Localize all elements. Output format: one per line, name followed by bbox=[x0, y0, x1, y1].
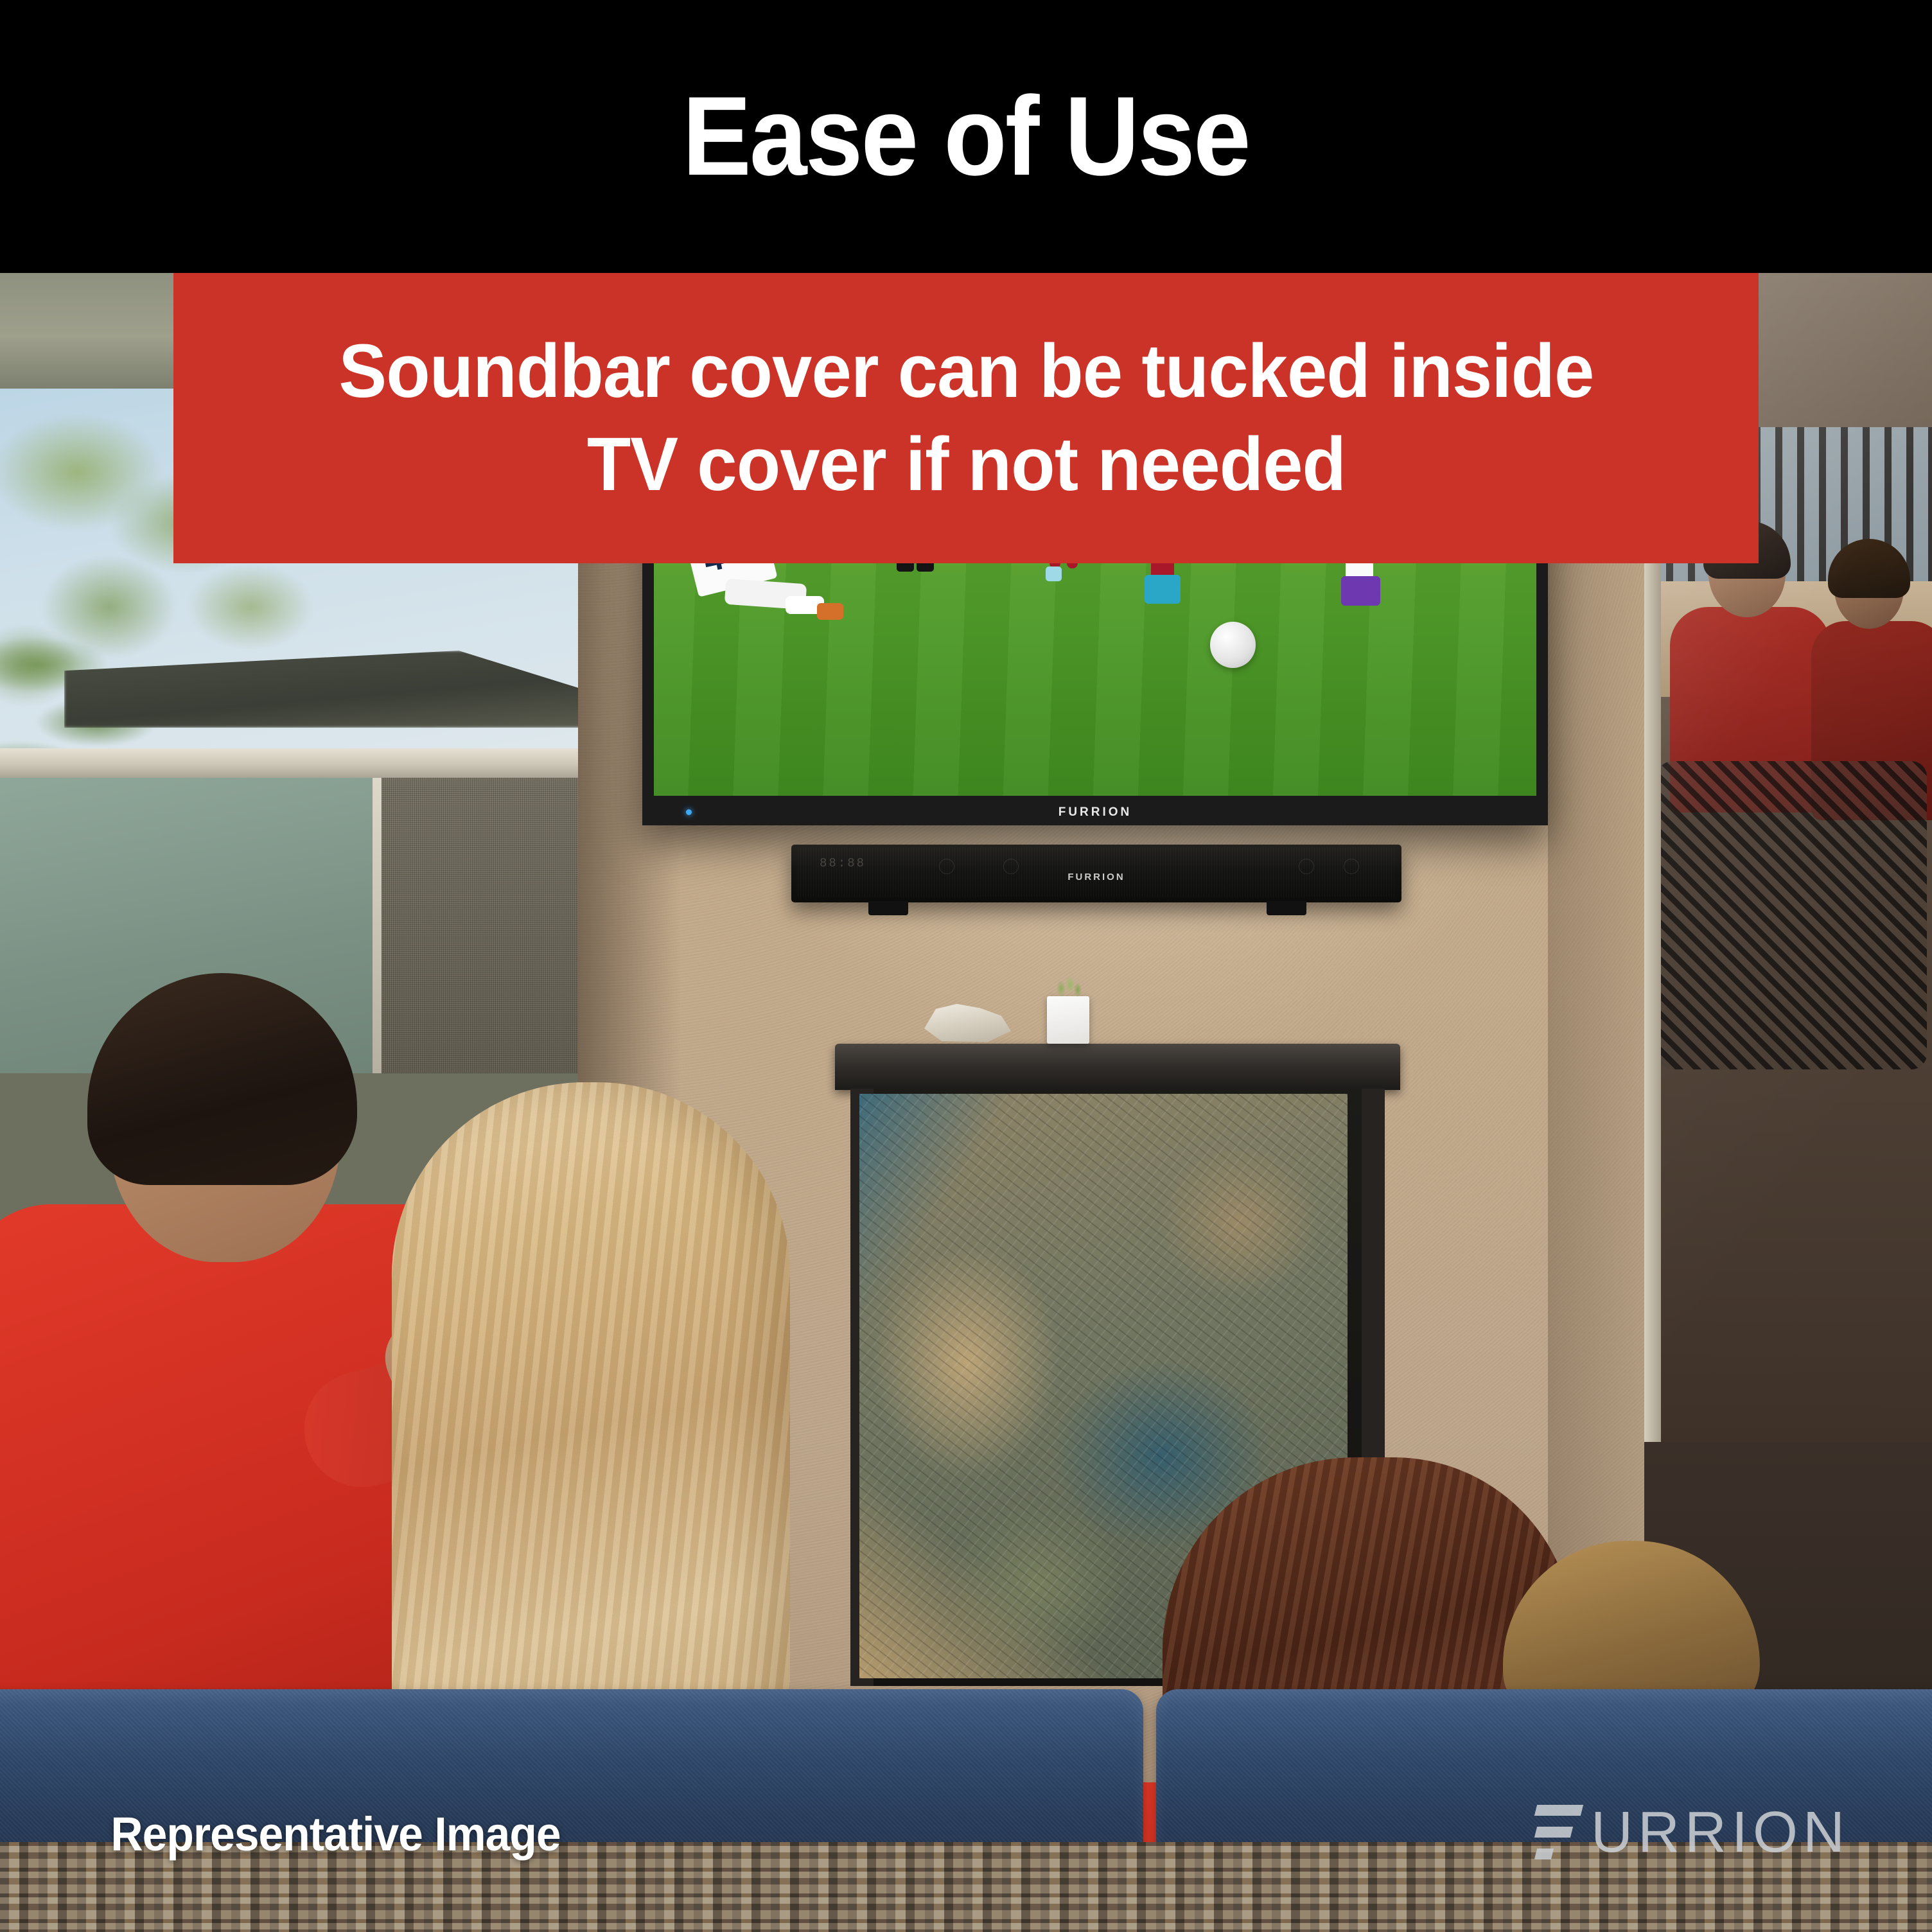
lower-window-pane bbox=[0, 778, 674, 1073]
soundbar-brand-label: FURRION bbox=[1067, 872, 1125, 883]
representative-image-disclaimer: Representative Image bbox=[110, 1807, 560, 1861]
tv-power-led bbox=[686, 809, 692, 815]
callout-line-2: TV cover if not needed bbox=[586, 422, 1345, 507]
mosaic-cabinet bbox=[835, 1044, 1400, 1686]
soundbar-volume-up-button[interactable] bbox=[1344, 859, 1359, 874]
cabinet-top-surface bbox=[835, 1044, 1400, 1090]
furrion-logo: URRION bbox=[1536, 1805, 1850, 1860]
soundbar-power-button[interactable] bbox=[939, 859, 954, 874]
marketing-poster: Ease of Use bbox=[0, 0, 1932, 1932]
cabinet-mosaic-panel bbox=[859, 1094, 1348, 1678]
soundbar-display: 88:88 bbox=[820, 856, 866, 870]
callout-text: Soundbar cover can be tucked inside TV c… bbox=[302, 325, 1630, 511]
furrion-wordmark: URRION bbox=[1591, 1807, 1850, 1859]
furrion-f-mark-icon bbox=[1536, 1805, 1582, 1860]
tv-brand-label: FURRION bbox=[1058, 805, 1132, 820]
soundbar-source-button[interactable] bbox=[1003, 859, 1019, 874]
soundbar-mount-bracket bbox=[1267, 901, 1306, 915]
soundbar-mount-bracket bbox=[868, 901, 908, 915]
white-planter bbox=[1047, 996, 1089, 1044]
furrion-soundbar: 88:88 FURRION bbox=[791, 845, 1401, 902]
callout-banner: Soundbar cover can be tucked inside TV c… bbox=[173, 273, 1759, 563]
soundbar-volume-down-button[interactable] bbox=[1299, 859, 1314, 874]
header-bar: Ease of Use bbox=[0, 0, 1932, 273]
soccer-ball-icon bbox=[1210, 622, 1256, 668]
callout-line-1: Soundbar cover can be tucked inside bbox=[338, 329, 1594, 414]
window-frame bbox=[0, 748, 674, 778]
page-title: Ease of Use bbox=[683, 80, 1249, 193]
outdoor-chair bbox=[1657, 761, 1927, 1069]
succulent-plant bbox=[1055, 977, 1083, 1000]
